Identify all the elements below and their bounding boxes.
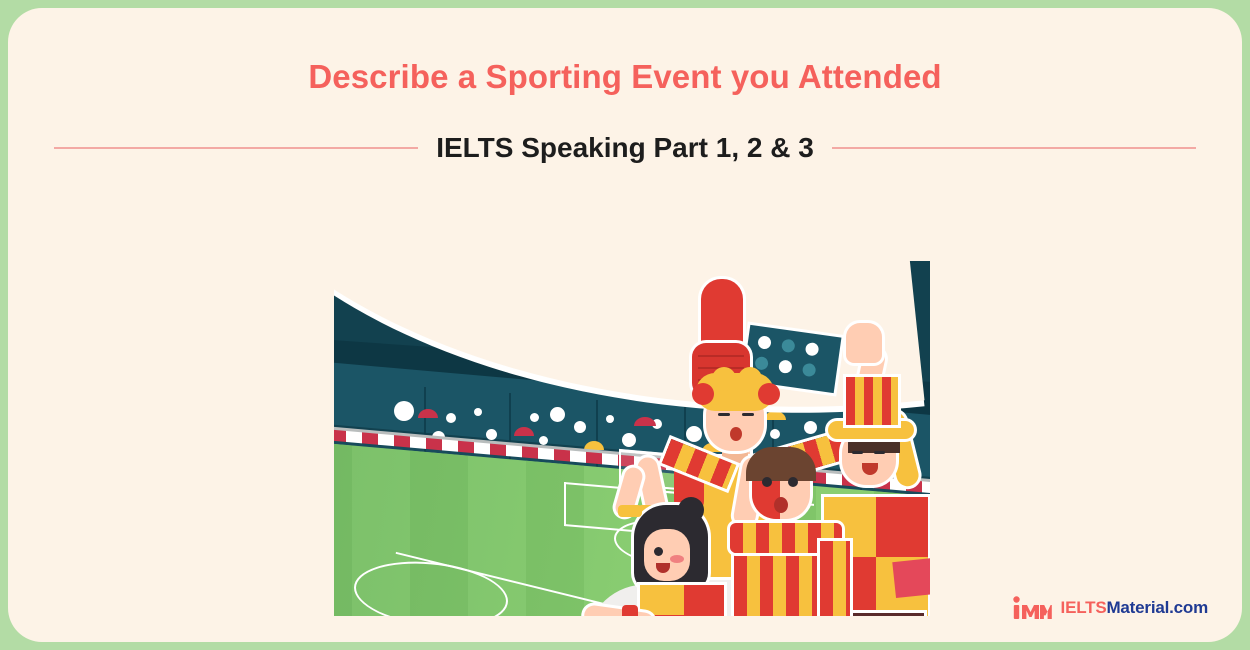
divider-left xyxy=(54,147,418,149)
crowd-dot xyxy=(530,413,539,422)
crowd-dot xyxy=(486,429,497,440)
fan-tophat-eye xyxy=(874,451,885,454)
crowd-dot xyxy=(539,436,548,445)
fan-girl-blush xyxy=(670,555,684,563)
fan-facepaint-mouth xyxy=(774,497,788,513)
crowd-dot xyxy=(622,433,636,447)
crowd-dot xyxy=(446,413,456,423)
crowd-dot xyxy=(804,421,817,434)
fan-facepaint-scarf-tail xyxy=(820,541,850,616)
fan-curly-hair-curl xyxy=(692,383,714,405)
fan-girl-eye xyxy=(654,547,663,556)
fan-girl-bun xyxy=(678,497,704,523)
fan-facepaint-eye xyxy=(762,477,772,487)
page-panel: Describe a Sporting Event you Attended I… xyxy=(8,8,1242,642)
crowd-dot xyxy=(574,421,586,433)
logo-text-ielts: IELTS xyxy=(1061,598,1107,617)
stadium-football-fans-illustration: 01 xyxy=(334,261,930,616)
penalty-box-line xyxy=(564,482,566,526)
fan-tophat-crown xyxy=(846,377,898,425)
fan-far-wristband xyxy=(618,505,642,517)
fan-curly-hair-curl xyxy=(758,383,780,405)
fan-curly-mouth xyxy=(730,427,742,441)
subtitle-row: IELTS Speaking Part 1, 2 & 3 xyxy=(8,132,1242,164)
fan-curly-hair-curl xyxy=(712,367,736,391)
fan-girl-face xyxy=(644,529,690,581)
fan-tophat-eye xyxy=(852,451,863,454)
crowd-dot xyxy=(770,429,780,439)
im-monogram-icon xyxy=(1012,596,1052,620)
crowd-dot xyxy=(474,408,482,416)
crowd-dot xyxy=(606,415,614,423)
fan-girl-shoulder xyxy=(640,585,684,615)
crowd-dot xyxy=(550,407,565,422)
fan-girl-jersey-number: 01 xyxy=(664,613,693,616)
crowd-dot xyxy=(394,401,414,421)
fan-facepaint-eye xyxy=(788,477,798,487)
site-logo[interactable]: IELTSMaterial.com xyxy=(1012,596,1208,620)
logo-text: IELTSMaterial.com xyxy=(1061,598,1208,618)
crowd-dot xyxy=(686,426,702,442)
page-subtitle: IELTS Speaking Part 1, 2 & 3 xyxy=(436,132,814,164)
fan-right-hand xyxy=(846,323,882,363)
logo-text-material: Material.com xyxy=(1106,598,1208,617)
fan-curly-eye xyxy=(718,413,730,416)
fan-curly-hair-curl xyxy=(738,367,762,391)
page-title: Describe a Sporting Event you Attended xyxy=(8,58,1242,96)
fan-curly-eye xyxy=(742,413,754,416)
fan-facepaint-hair xyxy=(746,447,816,481)
fan-girl-wristband-2 xyxy=(622,605,638,616)
fan-scarf-streak xyxy=(892,556,930,598)
divider-right xyxy=(832,147,1196,149)
